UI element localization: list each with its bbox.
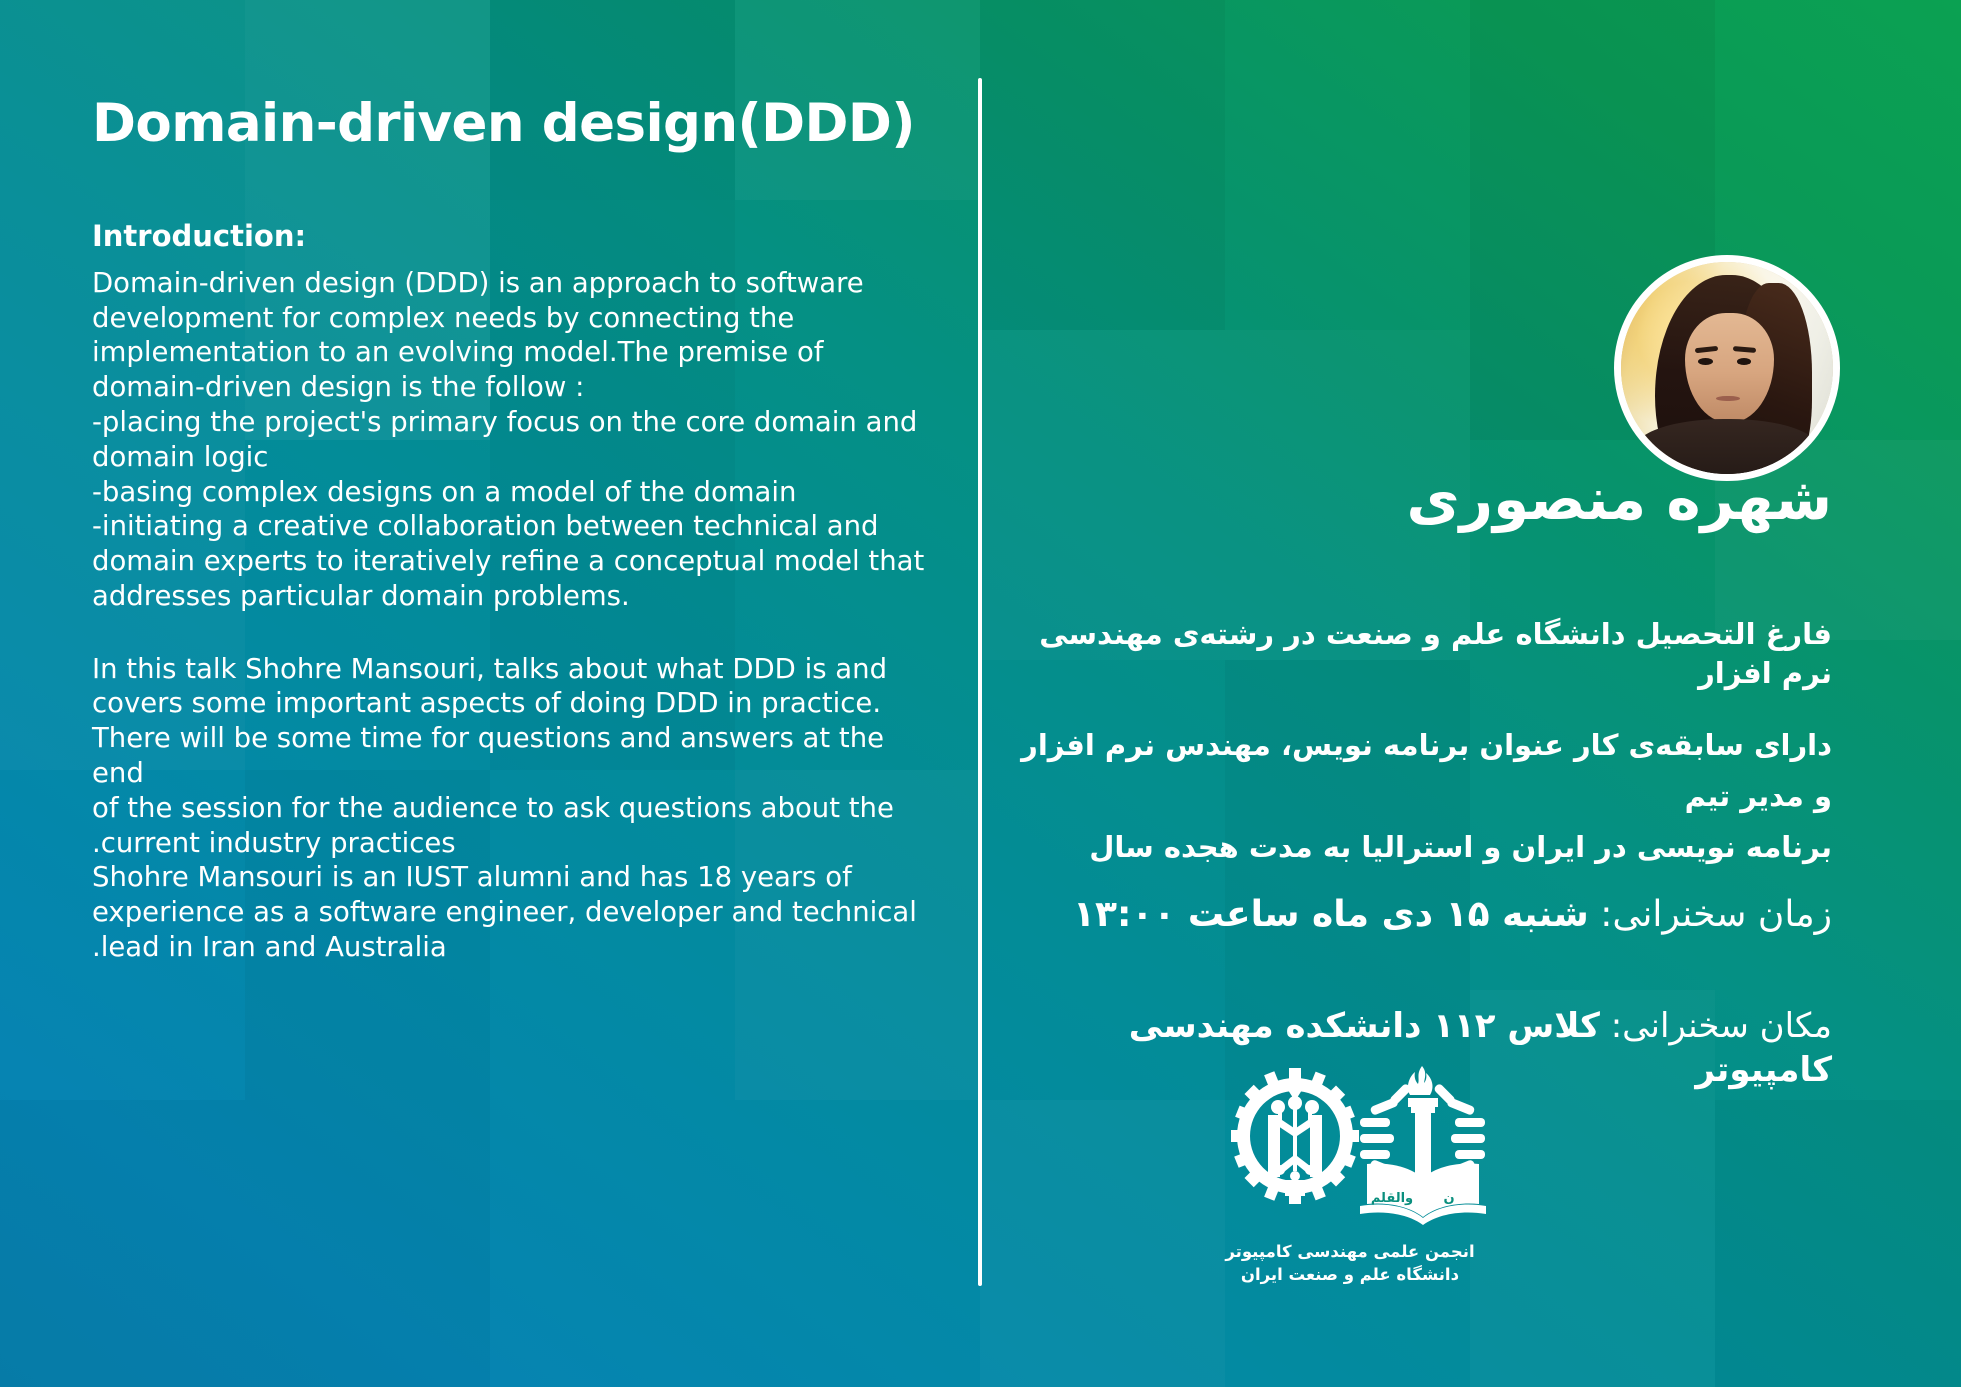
event-location-label: مکان سخنرانی: — [1611, 1006, 1832, 1046]
vertical-divider — [978, 78, 982, 1286]
association-logo: ن والقلم انجمن علمی مهندسی کامپیوتر دانش… — [1200, 1060, 1500, 1290]
speaker-portrait-image — [1621, 262, 1833, 474]
book-text-right: ن — [1443, 1191, 1454, 1206]
logo-emblems: ن والقلم — [1200, 1060, 1500, 1225]
gear-circuit-icon — [1231, 1068, 1359, 1204]
event-time-label: زمان سخنرانی: — [1600, 894, 1832, 935]
portrait-mouth — [1716, 396, 1739, 402]
event-time-value: شنبه ۱۵ دی ماه ساعت ۱۳:۰۰ — [1073, 894, 1589, 935]
speaker-experience: دارای سابقه‌ی کار عنوان برنامه نویس، مهن… — [1012, 720, 1832, 872]
event-time: زمان سخنرانی: شنبه ۱۵ دی ماه ساعت ۱۳:۰۰ — [1002, 892, 1832, 939]
paragraph-spacer — [92, 614, 932, 652]
bg-tile — [0, 1100, 490, 1387]
avatar — [1614, 255, 1840, 481]
logo-svg: ن والقلم — [1200, 1060, 1500, 1225]
left-content-column: Domain-driven design(DDD) Introduction: … — [92, 96, 932, 965]
right-content-column: شهره منصوری فارغ التحصیل دانشگاه علم و ص… — [1000, 60, 1900, 1350]
page-title: Domain-driven design(DDD) — [92, 96, 932, 152]
speaker-credential: فارغ التحصیل دانشگاه علم و صنعت در رشته‌… — [1012, 615, 1832, 693]
experience-line-1: دارای سابقه‌ی کار عنوان برنامه نویس، مهن… — [1012, 720, 1832, 822]
book-text-left: والقلم — [1371, 1191, 1413, 1206]
logo-caption: انجمن علمی مهندسی کامپیوتر دانشگاه علم و… — [1200, 1241, 1500, 1286]
experience-line-2: برنامه نویسی در ایران و استرالیا به مدت … — [1012, 822, 1832, 873]
introduction-heading: Introduction: — [92, 218, 932, 254]
speaker-name: شهره منصوری — [1112, 468, 1832, 532]
introduction-paragraph: Domain-driven design (DDD) is an approac… — [92, 266, 932, 614]
logo-line-1: انجمن علمی مهندسی کامپیوتر — [1200, 1241, 1500, 1263]
logo-line-2: دانشگاه علم و صنعت ایران — [1200, 1264, 1500, 1286]
event-poster: Domain-driven design(DDD) Introduction: … — [0, 0, 1961, 1387]
talk-description-paragraph: In this talk Shohre Mansouri, talks abou… — [92, 652, 932, 965]
